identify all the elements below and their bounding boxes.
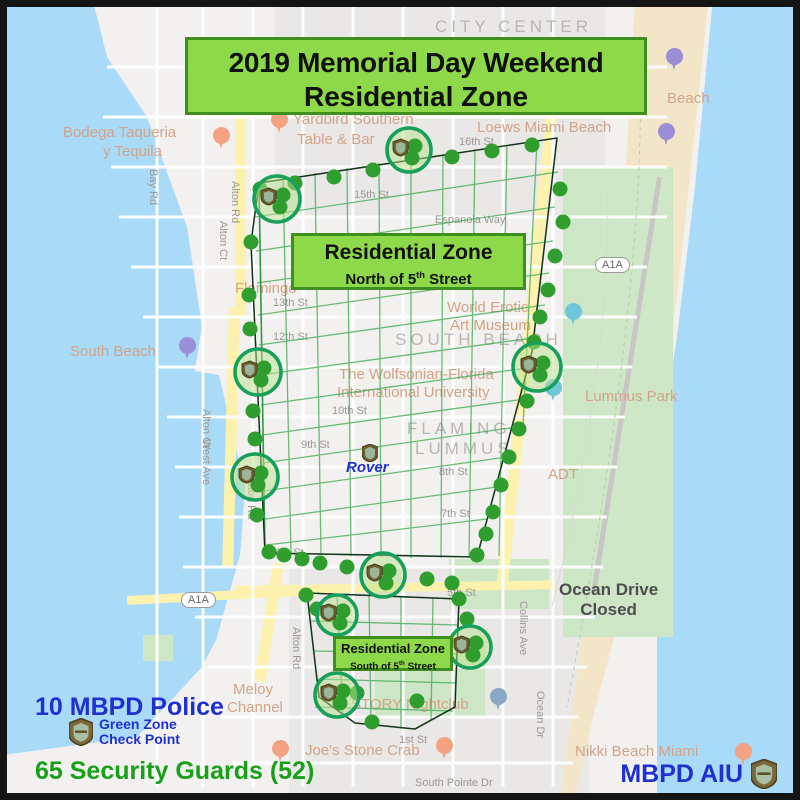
checkpoint-15th-alton[interactable] xyxy=(254,176,300,222)
security-guard-dot[interactable] xyxy=(553,182,568,197)
checkpoint-legend-line1: Green Zone xyxy=(99,717,180,732)
security-guard-dot[interactable] xyxy=(262,545,277,560)
north-zone-callout: Residential Zone North of 5th Street xyxy=(291,233,526,290)
security-guard-dot[interactable] xyxy=(277,548,292,563)
security-guard-dot[interactable] xyxy=(470,548,485,563)
south-zone-subtitle: South of 5th Street xyxy=(336,657,450,673)
poster-title-line2: Residential Zone xyxy=(188,80,644,114)
checkpoint-5th-collins[interactable] xyxy=(449,626,491,668)
police-badge-icon xyxy=(239,466,254,483)
police-badge-icon xyxy=(261,188,276,205)
security-guard-dot[interactable] xyxy=(327,170,342,185)
north-zone-title: Residential Zone xyxy=(294,240,523,265)
security-guard-dot[interactable] xyxy=(556,215,571,230)
poster-title-box: 2019 Memorial Day Weekend Residential Zo… xyxy=(185,37,647,115)
police-badge-icon xyxy=(454,636,469,653)
security-guard-dot[interactable] xyxy=(365,715,380,730)
security-guard-dot[interactable] xyxy=(512,422,527,437)
security-guard-dot[interactable] xyxy=(445,576,460,591)
poster-title-line1: 2019 Memorial Day Weekend xyxy=(188,46,644,80)
checkpoint-legend-line2: Check Point xyxy=(99,732,180,747)
security-guard-dot[interactable] xyxy=(486,505,501,520)
south-zone-callout: Residential Zone South of 5th Street xyxy=(333,636,453,671)
security-guard-dot[interactable] xyxy=(533,310,548,325)
police-badge-icon xyxy=(393,139,408,156)
security-guard-dot[interactable] xyxy=(452,592,467,607)
security-guard-dot[interactable] xyxy=(485,144,500,159)
security-guard-dot[interactable] xyxy=(420,572,435,587)
security-guards-label: 65 Security Guards (52) xyxy=(35,757,314,786)
north-zone-subtitle: North of 5th Street xyxy=(294,265,523,290)
poster-inner: CITY CENTERSOUTH BEACHFLAMINGOLUMMUSBode… xyxy=(7,7,793,793)
agency-label: MBPD AIU xyxy=(620,760,743,789)
security-guard-dot[interactable] xyxy=(250,508,265,523)
security-guard-dot[interactable] xyxy=(248,432,263,447)
security-guard-dot[interactable] xyxy=(502,450,517,465)
security-guard-dot[interactable] xyxy=(541,283,556,298)
checkpoint-legend: Green Zone Check Point xyxy=(69,717,180,747)
checkpoint-7th-alton[interactable] xyxy=(232,454,278,500)
security-guard-dot[interactable] xyxy=(494,478,509,493)
checkpoint-11th-alton[interactable] xyxy=(235,349,281,395)
south-zone-title: Residential Zone xyxy=(336,641,450,657)
security-guard-dot[interactable] xyxy=(410,694,425,709)
residential-zone-overlay xyxy=(7,7,793,793)
security-guard-dot[interactable] xyxy=(243,322,258,337)
rover-badge-icon xyxy=(362,444,378,462)
mbpd-badge-icon xyxy=(751,759,777,789)
police-badge-icon xyxy=(321,604,336,621)
security-guard-dot[interactable] xyxy=(244,235,259,250)
security-guard-dot[interactable] xyxy=(445,150,460,165)
checkpoint-5th-west[interactable] xyxy=(361,553,405,597)
checkpoint-layer xyxy=(232,128,561,717)
police-badge-icon xyxy=(521,356,536,373)
police-badge-icon xyxy=(69,718,93,746)
security-guard-dot[interactable] xyxy=(366,163,381,178)
security-guard-dot[interactable] xyxy=(242,288,257,303)
checkpoint-11th-ocean[interactable] xyxy=(513,343,561,391)
security-guard-dot[interactable] xyxy=(460,612,475,627)
security-guard-dot[interactable] xyxy=(295,552,310,567)
police-badge-icon xyxy=(242,361,257,378)
security-guard-dot[interactable] xyxy=(548,249,563,264)
agency-legend: MBPD AIU xyxy=(620,759,777,789)
checkpoint-16th-alton[interactable] xyxy=(387,128,431,172)
security-guard-dot[interactable] xyxy=(525,138,540,153)
security-guard-dot[interactable] xyxy=(520,394,535,409)
poster-frame: CITY CENTERSOUTH BEACHFLAMINGOLUMMUSBode… xyxy=(0,0,800,800)
security-guard-dot[interactable] xyxy=(340,560,355,575)
security-guard-dot[interactable] xyxy=(246,404,261,419)
police-badge-icon xyxy=(367,564,382,581)
security-guard-dot[interactable] xyxy=(479,527,494,542)
security-guard-dot[interactable] xyxy=(299,588,314,603)
security-guard-dot[interactable] xyxy=(313,556,328,571)
checkpoint-1st-alton[interactable] xyxy=(315,673,359,717)
checkpoint-south-alton[interactable] xyxy=(317,595,357,635)
police-badge-icon xyxy=(321,684,336,701)
